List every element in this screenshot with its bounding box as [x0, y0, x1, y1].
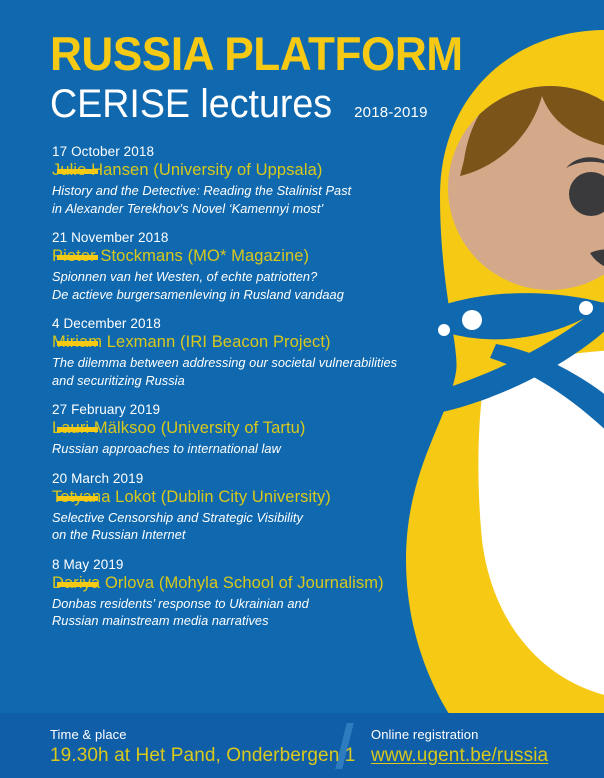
poster-footer: Time & place 19.30h at Het Pand, Onderbe…: [0, 713, 604, 778]
lecture-description-line1: Donbas residents’ response to Ukrainian …: [52, 596, 420, 613]
academic-year-label: 2018-2019: [354, 104, 428, 121]
lecture-speaker-row: Lauri Mälksoo (University of Tartu): [52, 418, 420, 440]
yellow-rule-icon: [57, 582, 98, 587]
page-title: RUSSIA PLATFORM: [50, 28, 445, 80]
list-item: 27 February 2019 Lauri Mälksoo (Universi…: [0, 401, 420, 458]
lecture-description-line2: Russian mainstream media narratives: [52, 613, 420, 630]
subtitle-row: CERISE lectures 2018-2019: [50, 82, 470, 126]
lecture-date: 21 November 2018: [52, 229, 420, 246]
registration-block: Online registration www.ugent.be/russia: [371, 727, 548, 768]
yellow-rule-icon: [57, 169, 98, 174]
doll-smile: [590, 249, 604, 271]
doll-scarf-fold: [396, 300, 604, 418]
doll-leaf-dot-large: [462, 310, 482, 330]
registration-url-link[interactable]: www.ugent.be/russia: [371, 745, 548, 766]
list-item: 4 December 2018 Miriam Lexmann (IRI Beac…: [0, 315, 420, 389]
list-item: 8 May 2019 Dariya Orlova (Mohyla School …: [0, 556, 420, 630]
yellow-rule-icon: [57, 496, 98, 501]
doll-scarf-shape: [406, 30, 604, 724]
doll-leaf-dot-right: [579, 301, 593, 315]
lecture-description-line2: in Alexander Terekhov’s Novel ‘Kamennyi …: [52, 201, 420, 218]
doll-leaf-petal: [412, 293, 604, 339]
time-place-label: Time & place: [50, 727, 355, 743]
lecture-description-line2: and securitizing Russia: [52, 373, 420, 390]
lecture-date: 27 February 2019: [52, 401, 420, 418]
doll-belly: [478, 350, 604, 700]
lecture-description-line1: Selective Censorship and Strategic Visib…: [52, 510, 420, 527]
lecture-description-line2: De actieve burgersamenleving in Rusland …: [52, 287, 420, 304]
poster-header: RUSSIA PLATFORM CERISE lectures 2018-201…: [50, 28, 470, 126]
lecture-speaker-row: Pieter Stockmans (MO* Magazine): [52, 246, 420, 268]
lecture-speaker: Dariya Orlova (Mohyla School of Journali…: [52, 574, 384, 592]
lecture-description-line1: Spionnen van het Westen, of echte patrio…: [52, 269, 420, 286]
doll-eyebrow: [566, 157, 604, 168]
time-place-block: Time & place 19.30h at Het Pand, Onderbe…: [50, 727, 355, 768]
list-item: 21 November 2018 Pieter Stockmans (MO* M…: [0, 229, 420, 303]
lecture-date: 8 May 2019: [52, 556, 420, 573]
yellow-rule-icon: [57, 427, 98, 432]
doll-hair: [460, 58, 604, 176]
page-subtitle: CERISE lectures: [50, 82, 332, 126]
doll-eye: [569, 172, 604, 216]
lecture-speaker-row: Julie Hansen (University of Uppsala): [52, 160, 420, 182]
lecture-description-line1: Russian approaches to international law: [52, 441, 420, 458]
yellow-rule-icon: [57, 255, 98, 260]
lecture-speaker-row: Tetyana Lokot (Dublin City University): [52, 487, 420, 509]
list-item: 17 October 2018 Julie Hansen (University…: [0, 143, 420, 217]
lecture-date: 17 October 2018: [52, 143, 420, 160]
poster-canvas: RUSSIA PLATFORM CERISE lectures 2018-201…: [0, 0, 604, 778]
lecture-description-line1: History and the Detective: Reading the S…: [52, 183, 420, 200]
time-place-value: 19.30h at Het Pand, Onderbergen 1: [50, 743, 355, 768]
registration-label: Online registration: [371, 727, 548, 743]
lecture-speaker-row: Dariya Orlova (Mohyla School of Journali…: [52, 573, 420, 595]
lecture-date: 20 March 2019: [52, 470, 420, 487]
doll-leaf-stem: [490, 344, 604, 470]
registration-url-row: www.ugent.be/russia: [371, 743, 548, 768]
lecture-description-line2: on the Russian Internet: [52, 527, 420, 544]
lecture-speaker-row: Miriam Lexmann (IRI Beacon Project): [52, 332, 420, 354]
doll-face: [448, 86, 604, 290]
list-item: 20 March 2019 Tetyana Lokot (Dublin City…: [0, 470, 420, 544]
lecture-date: 4 December 2018: [52, 315, 420, 332]
yellow-rule-icon: [57, 341, 98, 346]
doll-leaf-dot-small: [438, 324, 450, 336]
lecture-description-line1: The dilemma between addressing our socie…: [52, 355, 420, 372]
lecture-list: 17 October 2018 Julie Hansen (University…: [0, 143, 420, 642]
